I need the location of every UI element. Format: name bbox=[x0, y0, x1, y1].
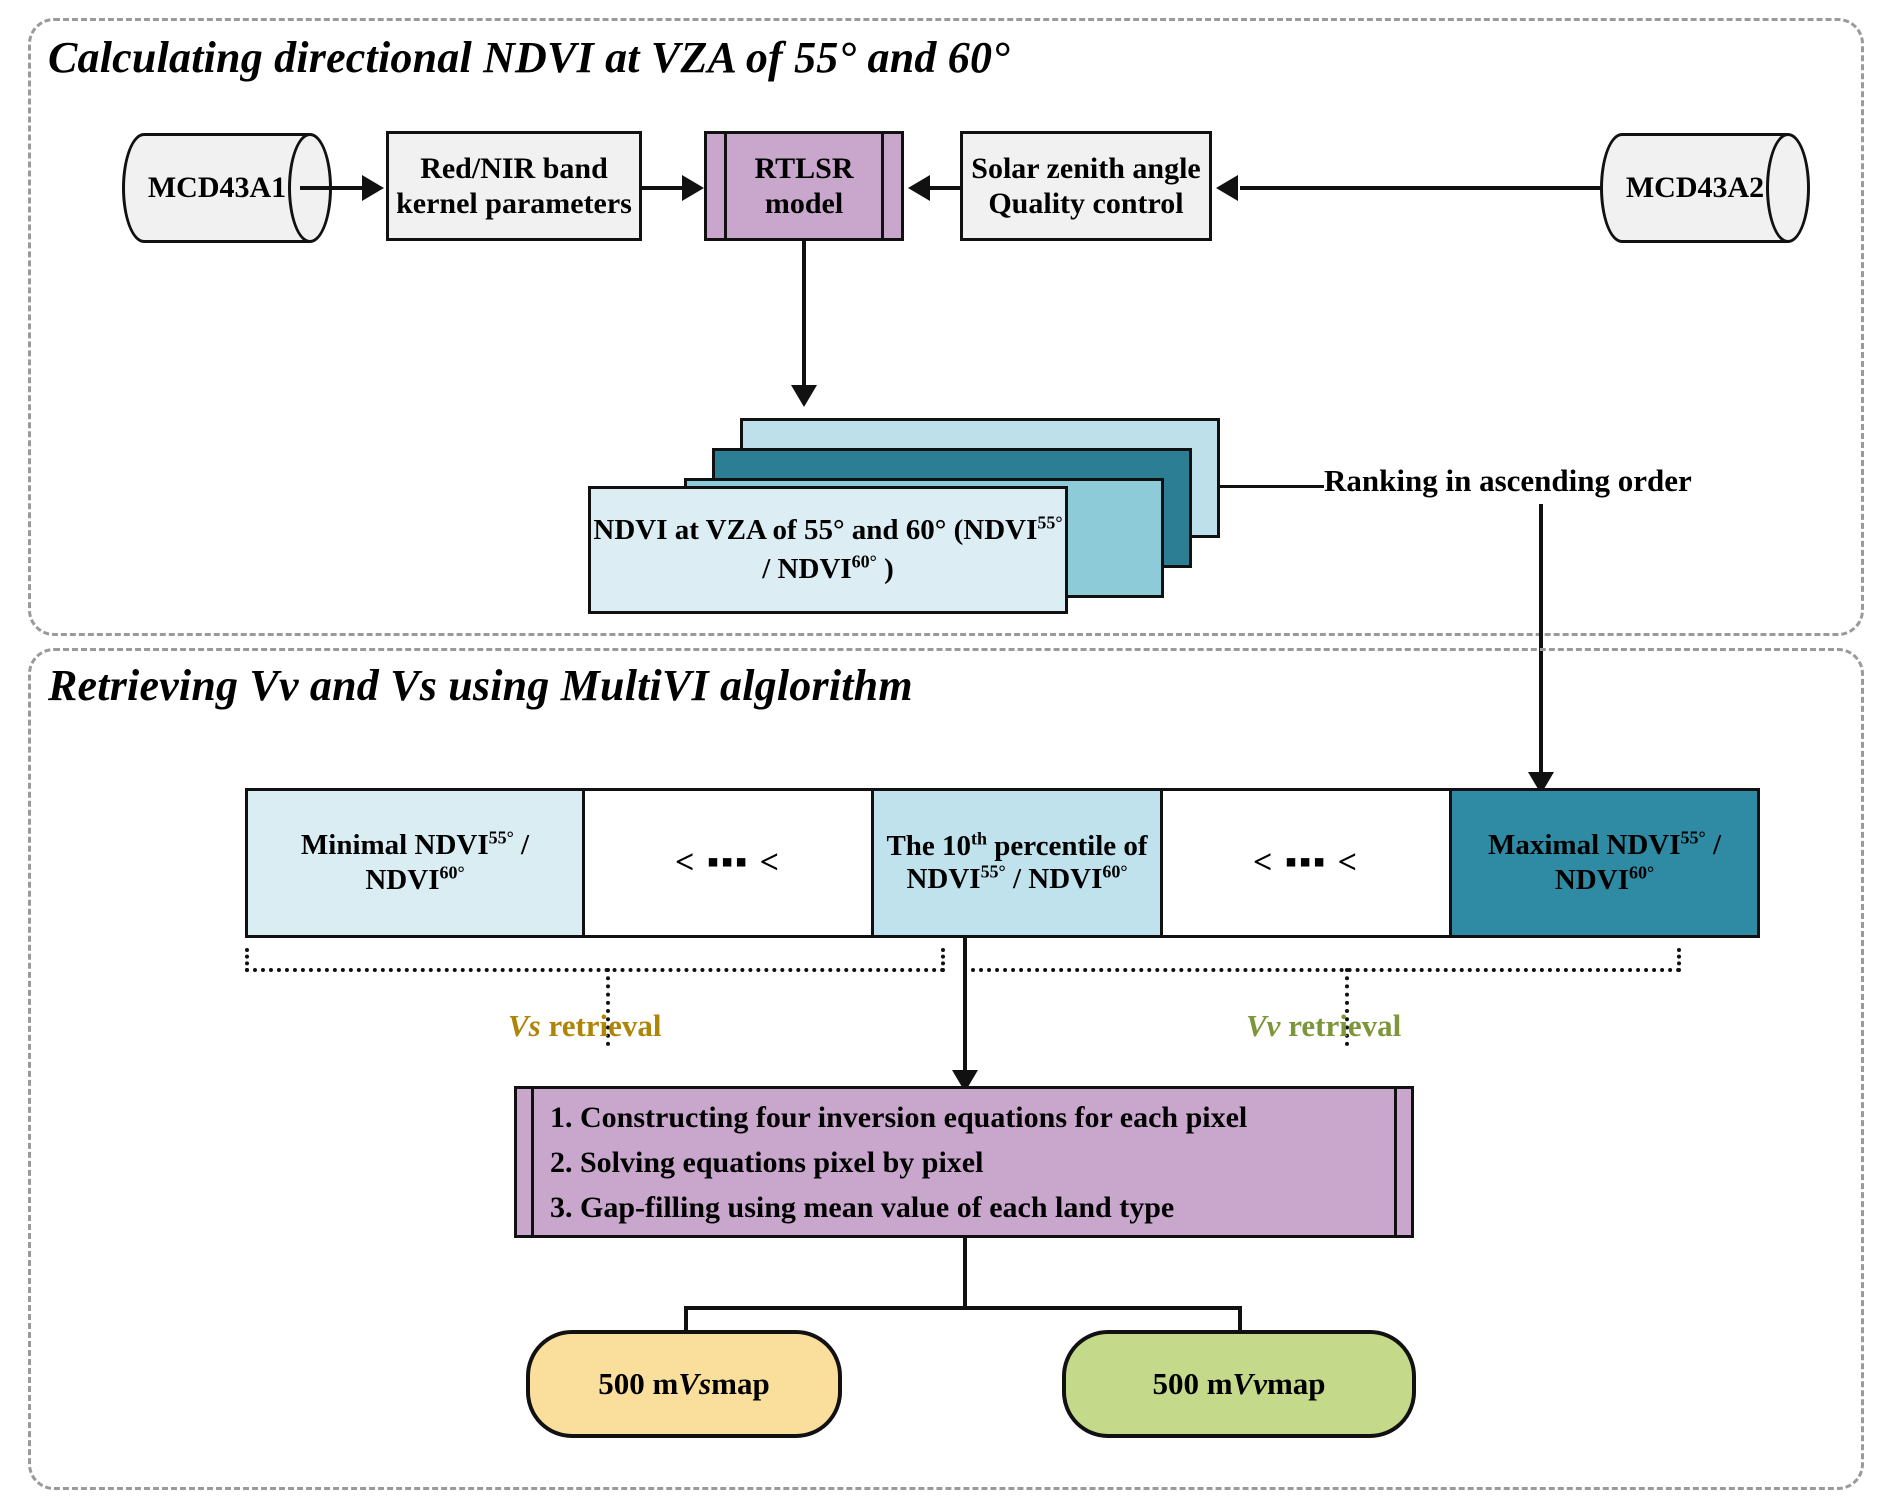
label-vs-retrieval-rest: retrieval bbox=[541, 1008, 662, 1043]
brace-vs-right-tick bbox=[941, 948, 945, 972]
cell-tenth-percentile: The 10th percentile of NDVI55° / NDVI60° bbox=[871, 788, 1163, 938]
minimal-sup1: 55° bbox=[489, 828, 514, 848]
connector-a2-to-qc bbox=[1240, 186, 1302, 190]
label-vs-retrieval: Vs retrieval bbox=[508, 1008, 662, 1044]
kernel-line-1: Red/NIR band bbox=[396, 151, 632, 186]
node-rtlsr-model: RTLSR model bbox=[704, 131, 904, 241]
cell-minimal-ndvi: Minimal NDVI55° / NDVI60° bbox=[245, 788, 585, 938]
qc-line-2: Quality control bbox=[971, 186, 1200, 221]
node-kernel-parameters: Red/NIR band kernel parameters bbox=[386, 131, 642, 241]
minimal-sup2: 60° bbox=[439, 862, 464, 882]
percentile-title-post: percentile bbox=[987, 830, 1116, 862]
connector-a1-to-kernel bbox=[300, 186, 364, 190]
cell-maximal-ndvi: Maximal NDVI55° / NDVI60° bbox=[1449, 788, 1760, 938]
rtlsr-line-1: RTLSR bbox=[755, 151, 854, 186]
percentile-sup2: 60° bbox=[1102, 861, 1127, 881]
stack-layer-1-front: NDVI at VZA of 55° and 60° (NDVI55° / ND… bbox=[588, 486, 1068, 614]
arrowhead-a1-to-kernel bbox=[362, 175, 384, 201]
connector-qc-to-rtlsr bbox=[930, 186, 962, 190]
label-vv-retrieval-italic: Vv bbox=[1246, 1008, 1280, 1043]
connector-rtlsr-to-stack bbox=[802, 241, 806, 389]
equation-steps-inner: 1. Constructing four inversion equations… bbox=[531, 1089, 1397, 1235]
brace-vv-horizontal bbox=[963, 968, 1681, 972]
label-vs-retrieval-italic: Vs bbox=[508, 1008, 541, 1043]
ellipsis-left-text: < ▪▪▪ < bbox=[675, 843, 781, 884]
node-quality-control: Solar zenith angle Quality control bbox=[960, 131, 1212, 241]
cell-ellipsis-right: < ▪▪▪ < bbox=[1160, 788, 1452, 938]
maximal-sup1: 55° bbox=[1681, 828, 1706, 848]
vv-map-post: map bbox=[1267, 1366, 1326, 1402]
stack-line2-pre: (NDVI bbox=[954, 514, 1038, 546]
vs-map-post: map bbox=[711, 1366, 770, 1402]
equation-step-1: 1. Constructing four inversion equations… bbox=[550, 1095, 1378, 1140]
node-equation-steps: 1. Constructing four inversion equations… bbox=[514, 1086, 1414, 1238]
connector-a2-line bbox=[1302, 186, 1602, 190]
percentile-sub-pre: NDVI bbox=[906, 863, 980, 895]
node-mcd43a2: MCD43A2 bbox=[1600, 133, 1810, 243]
equation-step-3: 3. Gap-filling using mean value of each … bbox=[550, 1185, 1378, 1230]
connector-equations-split bbox=[684, 1306, 1242, 1310]
brace-vv-right-tick bbox=[1677, 948, 1681, 972]
percentile-title-pre: The 10 bbox=[886, 830, 971, 862]
label-vv-retrieval-rest: retrieval bbox=[1280, 1008, 1401, 1043]
connector-percentile-to-equations bbox=[963, 938, 967, 1086]
percentile-ranking-row: Minimal NDVI55° / NDVI60° < ▪▪▪ < The 10… bbox=[245, 788, 1760, 938]
section-title-calculating: Calculating directional NDVI at VZA of 5… bbox=[48, 32, 1010, 83]
leader-line-ranking bbox=[1220, 485, 1324, 488]
connector-equations-down bbox=[963, 1238, 967, 1308]
percentile-mid: / NDVI bbox=[1006, 863, 1103, 895]
predefined-bar-right bbox=[881, 134, 884, 238]
stack-line2-sup2: 60° bbox=[852, 551, 877, 571]
section-title-retrieving: Retrieving Vv and Vs using MultiVI alglo… bbox=[48, 660, 913, 711]
stack-line-1: NDVI at VZA of 55° and 60° bbox=[593, 514, 946, 546]
section-panel-retrieving bbox=[28, 648, 1864, 1490]
minimal-title: Minimal bbox=[301, 829, 407, 861]
vv-map-italic: Vv bbox=[1233, 1366, 1267, 1402]
maximal-sub-pre: NDVI bbox=[1606, 829, 1680, 861]
rtlsr-line-2: model bbox=[755, 186, 854, 221]
equation-step-2: 2. Solving equations pixel by pixel bbox=[550, 1140, 1378, 1185]
connector-kernel-to-rtlsr bbox=[642, 186, 684, 190]
arrowhead-qc-to-rtlsr bbox=[908, 175, 930, 201]
maximal-sup2: 60° bbox=[1629, 862, 1654, 882]
percentile-title-sup: th bbox=[971, 828, 987, 848]
brace-vs-horizontal bbox=[245, 968, 945, 972]
percentile-of: of bbox=[1123, 830, 1147, 862]
ellipsis-right-text: < ▪▪▪ < bbox=[1253, 843, 1359, 884]
percentile-title: The 10th percentile bbox=[886, 830, 1116, 862]
kernel-line-2: kernel parameters bbox=[396, 186, 632, 221]
vs-map-italic: Vs bbox=[678, 1366, 711, 1402]
node-vv-map: 500 m Vv map bbox=[1062, 1330, 1416, 1438]
stack-line2-sup1: 55° bbox=[1037, 512, 1062, 532]
cell-ellipsis-left: < ▪▪▪ < bbox=[582, 788, 874, 938]
percentile-sup1: 55° bbox=[981, 861, 1006, 881]
label-vv-retrieval: Vv retrieval bbox=[1246, 1008, 1401, 1044]
figure-canvas: Calculating directional NDVI at VZA of 5… bbox=[0, 0, 1892, 1507]
minimal-sub-pre: NDVI bbox=[415, 829, 489, 861]
node-mcd43a2-label: MCD43A2 bbox=[1600, 133, 1810, 243]
vv-map-pre: 500 m bbox=[1152, 1366, 1232, 1402]
arrowhead-a2-to-qc bbox=[1216, 175, 1238, 201]
arrowhead-rtlsr-to-stack bbox=[791, 385, 817, 407]
qc-line-1: Solar zenith angle bbox=[971, 151, 1200, 186]
stack-line2-mid: / NDVI bbox=[762, 553, 851, 585]
label-ranking-ascending: Ranking in ascending order bbox=[1324, 463, 1692, 499]
vs-map-pre: 500 m bbox=[598, 1366, 678, 1402]
maximal-title: Maximal bbox=[1488, 829, 1599, 861]
stack-line2-post: ) bbox=[877, 553, 894, 585]
predefined-bar-left bbox=[724, 134, 727, 238]
arrowhead-kernel-to-rtlsr bbox=[682, 175, 704, 201]
node-vs-map: 500 m Vs map bbox=[526, 1330, 842, 1438]
percentile-subtitle: NDVI55° / NDVI60° bbox=[906, 863, 1127, 895]
